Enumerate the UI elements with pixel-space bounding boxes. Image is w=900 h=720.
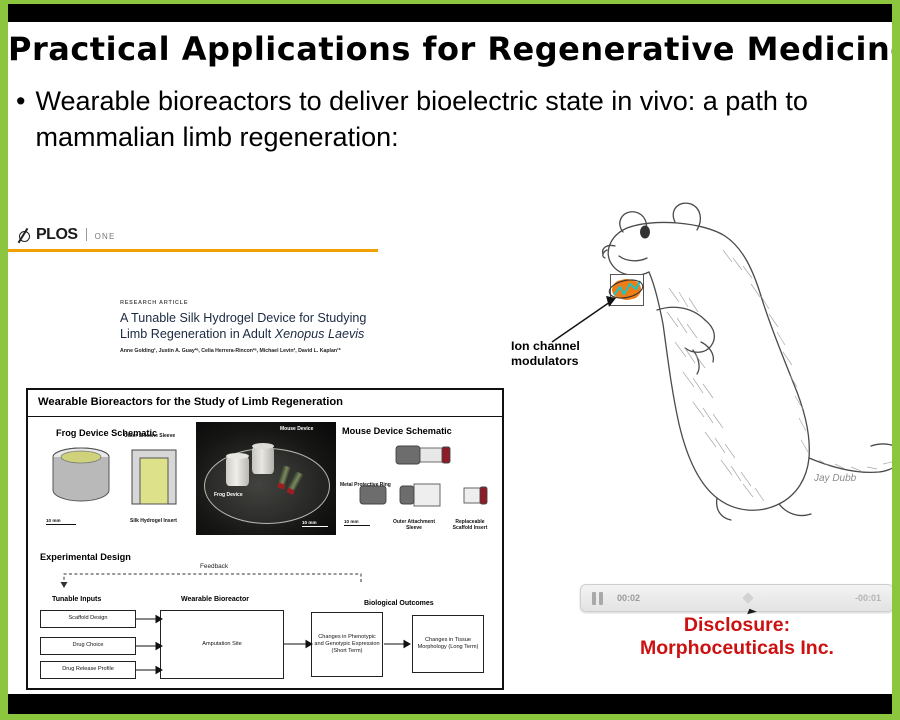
plos-divider: [86, 228, 87, 241]
ion-channel-label-line1: Ion channel: [511, 339, 580, 354]
article-title: A Tunable Silk Hydrogel Device for Study…: [120, 310, 380, 342]
article-header: RESEARCH ARTICLE A Tunable Silk Hydrogel…: [120, 300, 380, 356]
bottom-black-bar: [8, 694, 892, 714]
slide-canvas: Practical Applications for Regenerative …: [8, 22, 892, 694]
pause-icon[interactable]: [592, 592, 603, 605]
diamond-handle-icon[interactable]: [742, 592, 753, 603]
disclosure-text: Disclosure: Morphoceuticals Inc.: [580, 614, 892, 661]
input-box-drug-choice: Drug Choice: [40, 637, 136, 655]
article-authors: Anne Golding¹, Justin A. Guay²ᵃ, Celia H…: [120, 348, 380, 356]
plos-header: PLOS ONE: [8, 227, 378, 252]
bullet-item: • Wearable bioreactors to deliver bioele…: [16, 84, 856, 156]
progress-track[interactable]: [650, 597, 845, 600]
input-box-drug-release-profile: Drug Release Profile: [40, 661, 136, 679]
feedback-arrow: [38, 570, 498, 588]
experimental-design-heading: Experimental Design: [40, 552, 131, 562]
tunable-inputs-label: Tunable Inputs: [52, 596, 101, 603]
plos-journal: ONE: [95, 233, 116, 243]
frog-sleeve-label: Outer Silicone Sleeve: [124, 433, 175, 439]
frog-insert-label: Silk Hydrogel Insert: [130, 518, 177, 524]
figure-rule: [28, 416, 502, 417]
article-title-line1: A Tunable Silk Hydrogel Device for Study…: [120, 310, 380, 326]
article-kicker: RESEARCH ARTICLE: [120, 300, 380, 306]
mouse-panel-title: Mouse Device Schematic: [342, 426, 452, 436]
plos-orange-rule: [8, 249, 378, 252]
illustrator-signature: Jay Dubb: [814, 473, 856, 484]
frog-scale-bar: 10 mm: [46, 518, 76, 525]
plos-brand: PLOS: [36, 227, 78, 243]
flow-arrows: [136, 610, 496, 680]
frog-device-drawing: [44, 446, 118, 508]
device-photo: [196, 422, 336, 535]
mouse-scale-bar: 10 mm: [344, 519, 370, 526]
frog-device-cup-b: [252, 446, 274, 474]
article-title-line2: Limb Regeneration in Adult: [120, 327, 275, 341]
page-title: Practical Applications for Regenerative …: [8, 30, 892, 68]
article-title-species: Xenopus Laevis: [275, 327, 365, 341]
ion-channel-label-line2: modulators: [511, 354, 580, 369]
biological-outcomes-label: Biological Outcomes: [364, 600, 434, 607]
bullet-text: Wearable bioreactors to deliver bioelect…: [35, 84, 856, 156]
figure-title: Wearable Bioreactors for the Study of Li…: [38, 396, 343, 408]
frog-device-cup-a: [226, 456, 249, 486]
mouse-sleeve-label: Outer Attachment Sleeve: [392, 519, 436, 532]
ion-channel-label: Ion channel modulators: [511, 339, 580, 369]
elapsed-time: 00:02: [617, 593, 640, 603]
mouse-ring-label: Metal Protective Ring: [340, 482, 391, 488]
mouse-scaffold-label: Replaceable Scaffold Insert: [448, 519, 492, 532]
slide-frame: Practical Applications for Regenerative …: [0, 0, 900, 720]
disclosure-line1: Disclosure:: [580, 614, 892, 637]
photo-scale-bar: 10 mm: [302, 520, 328, 527]
video-player-controls[interactable]: 00:02 -00:01: [580, 584, 892, 612]
frog-device-cross-section: [126, 446, 182, 508]
photo-frog-device-label: Frog Device: [214, 492, 243, 498]
feedback-label: Feedback: [200, 563, 228, 570]
wearable-bioreactor-label: Wearable Bioreactor: [181, 596, 249, 603]
photo-mouse-device-label: Mouse Device: [280, 426, 313, 432]
top-black-bar: [8, 4, 892, 22]
input-box-scaffold-design: Scaffold Design: [40, 610, 136, 628]
plos-sunburst-icon: [16, 228, 31, 243]
bullet-marker: •: [16, 84, 25, 156]
remaining-time: -00:01: [855, 593, 881, 603]
disclosure-line2: Morphoceuticals Inc.: [580, 637, 892, 660]
